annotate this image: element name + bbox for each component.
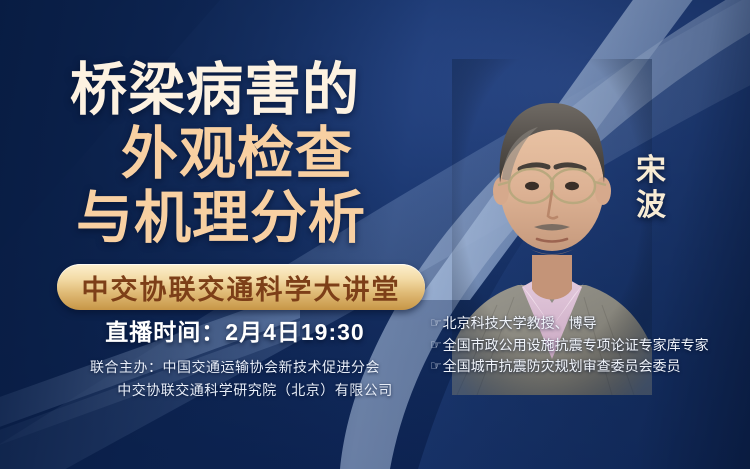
speaker-name-char-1: 宋 — [628, 154, 674, 189]
pointing-hand-icon: ☞ — [430, 313, 442, 333]
credential-row: ☞ 全国城市抗震防灾规划审查委员会委员 — [430, 356, 709, 378]
speaker-name-char-2: 波 — [628, 189, 674, 224]
credential-text: 全国城市抗震防灾规划审查委员会委员 — [443, 356, 681, 378]
speaker-name: 宋 波 — [628, 154, 674, 224]
title-line-3: 与机理分析 — [0, 190, 452, 247]
series-banner-label: 中交协联交通科学大讲堂 — [82, 268, 401, 307]
poster-title: 桥梁病害的 外观检查 与机理分析 — [0, 62, 452, 247]
organizers: 联合主办：中国交通运输协会新技术促进分会 中交协联交通科学研究院（北京）有限公司 — [0, 356, 470, 402]
speaker-credentials: ☞ 北京科技大学教授、博导 ☞ 全国市政公用设施抗震专项论证专家库专家 ☞ 全国… — [430, 313, 709, 378]
organizer-line-1: 联合主办：中国交通运输协会新技术促进分会 — [0, 356, 470, 379]
title-line-2: 外观检查 — [22, 126, 452, 183]
pointing-hand-icon: ☞ — [430, 335, 442, 355]
webinar-poster: 桥梁病害的 外观检查 与机理分析 中交协联交通科学大讲堂 直播时间：2月4日19… — [0, 0, 750, 469]
credential-text: 全国市政公用设施抗震专项论证专家库专家 — [443, 335, 709, 357]
organizer-line-2: 中交协联交通科学研究院（北京）有限公司 — [0, 379, 470, 402]
pointing-hand-icon: ☞ — [430, 356, 442, 376]
series-banner: 中交协联交通科学大讲堂 — [57, 264, 425, 310]
live-time: 直播时间：2月4日19:30 — [0, 313, 470, 347]
credential-text: 北京科技大学教授、博导 — [443, 313, 597, 335]
credential-row: ☞ 全国市政公用设施抗震专项论证专家库专家 — [430, 335, 709, 357]
credential-row: ☞ 北京科技大学教授、博导 — [430, 313, 709, 335]
title-line-1: 桥梁病害的 — [0, 62, 452, 119]
